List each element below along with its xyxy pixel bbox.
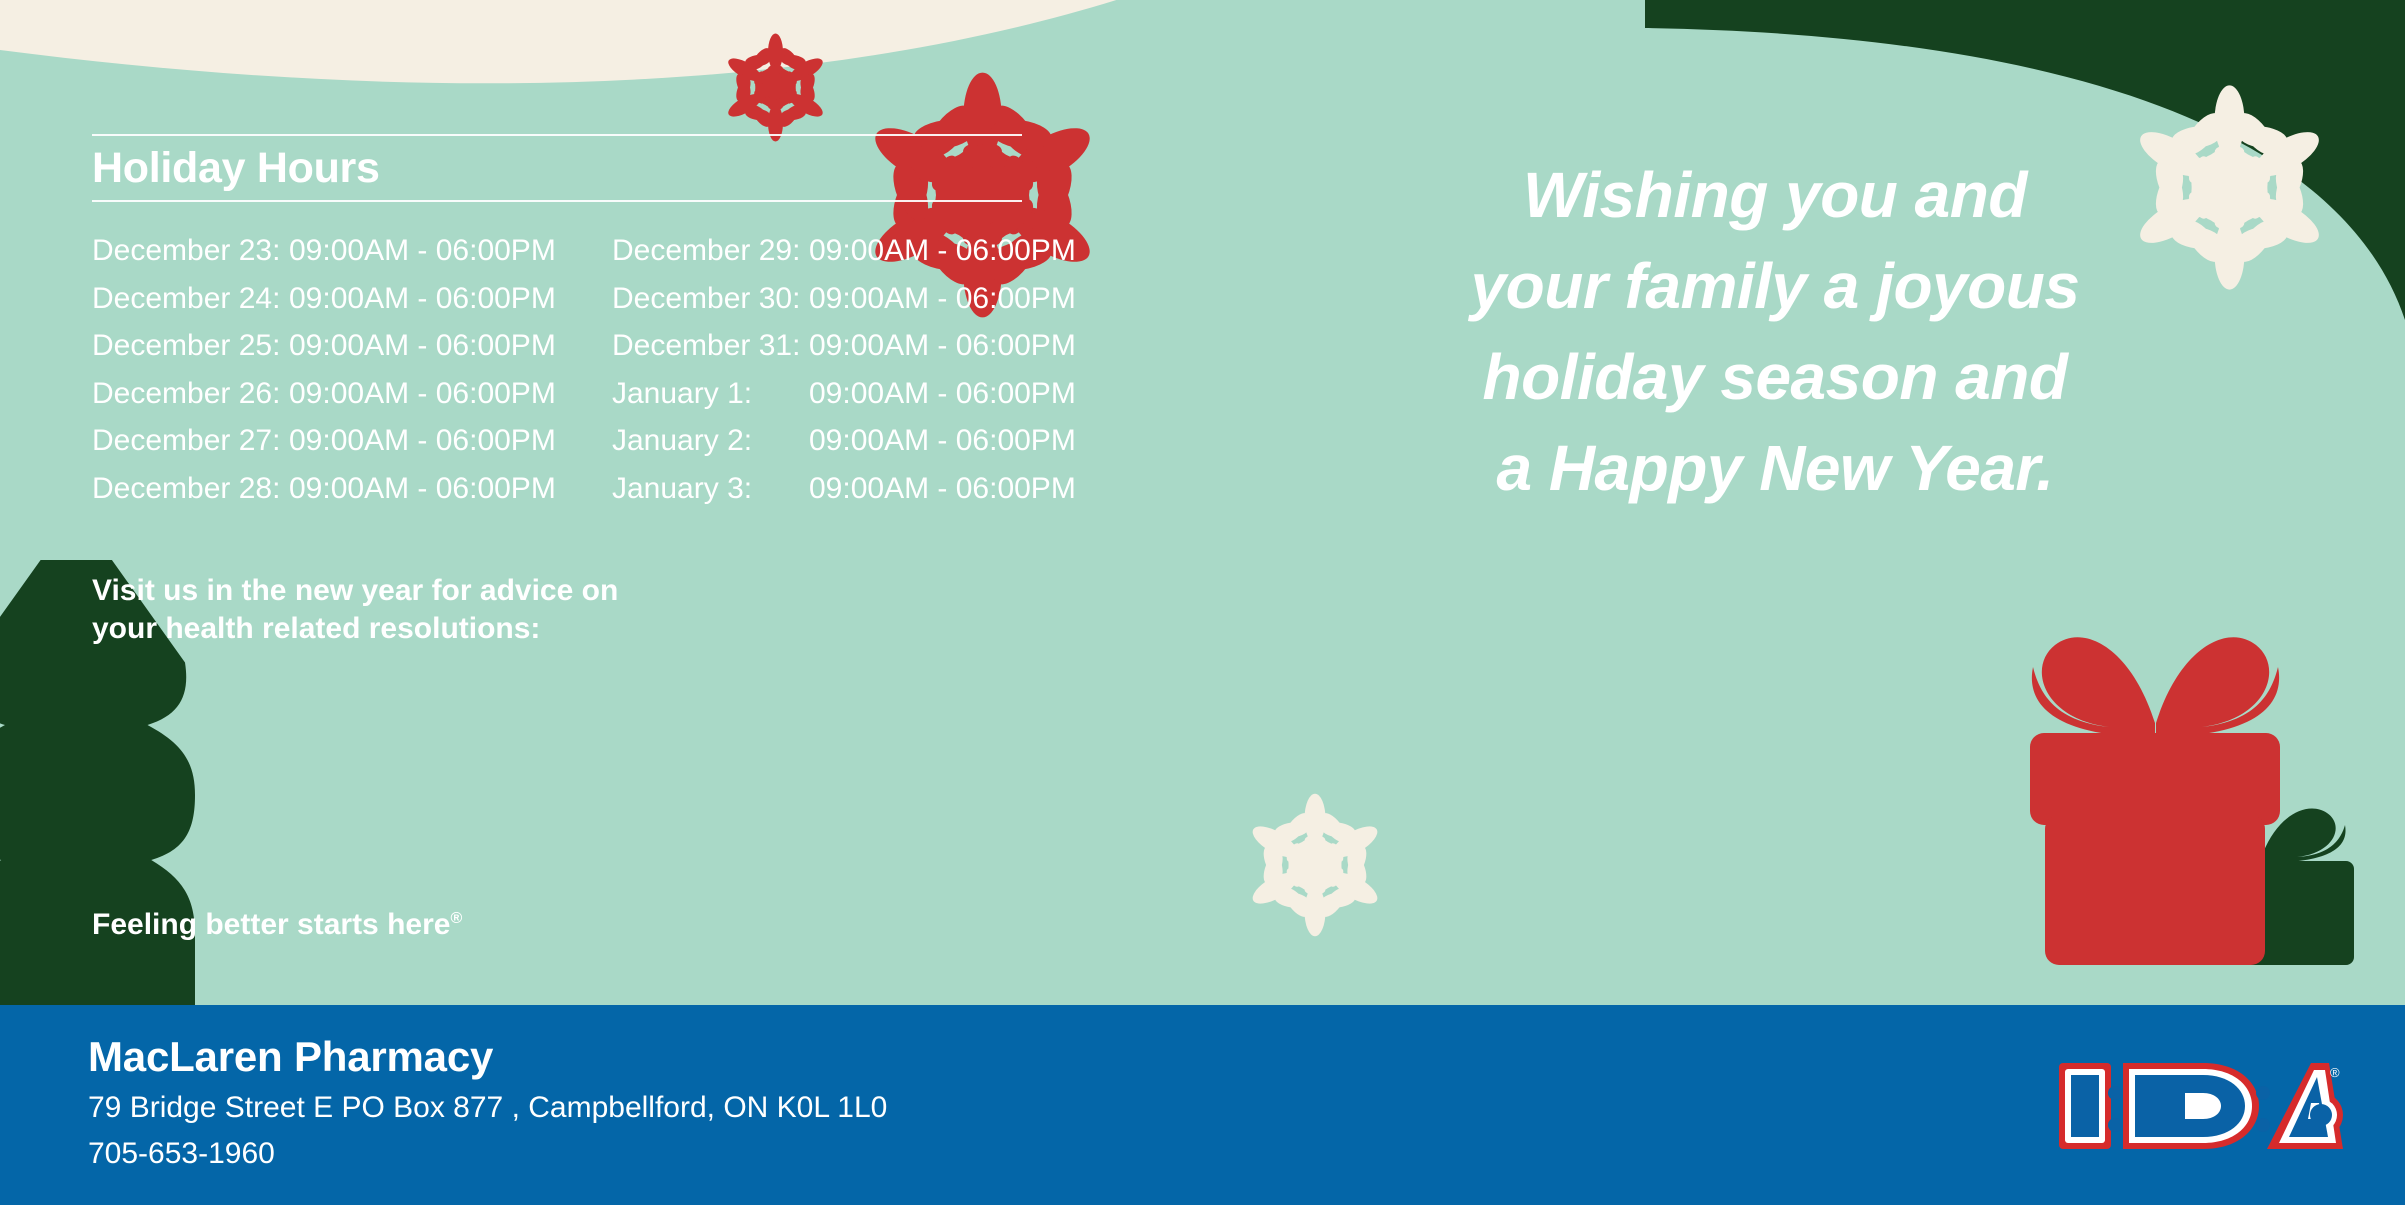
registered-trademark-icon: ® [450, 910, 462, 927]
promo-line-2: your health related resolutions: [92, 610, 852, 648]
hours-day-label: January 3: [612, 472, 809, 506]
holiday-hours-title: Holiday Hours [92, 136, 1122, 200]
holiday-greeting-message: Wishing you and your family a joyous hol… [1360, 150, 2190, 514]
hours-row: December 26: 09:00AM - 06:00PM [92, 377, 612, 425]
brand-tagline: Feeling better starts here® [92, 908, 462, 942]
hours-day-label: December 24: [92, 282, 289, 316]
hours-day-label: December 26: [92, 377, 289, 411]
store-address: 79 Bridge Street E PO Box 877 , Campbell… [88, 1091, 887, 1125]
hours-day-label: December 27: [92, 424, 289, 458]
hours-day-label: December 30: [612, 282, 809, 316]
hours-row: December 31: 09:00AM - 06:00PM [612, 329, 1132, 377]
hours-row: December 24: 09:00AM - 06:00PM [92, 282, 612, 330]
hours-day-label: December 31: [612, 329, 809, 363]
hours-time-value: 09:00AM - 06:00PM [809, 424, 1076, 458]
promo-line-1: Visit us in the new year for advice on [92, 572, 852, 610]
ida-logo: ® [2053, 1053, 2343, 1158]
hours-row: January 1: 09:00AM - 06:00PM [612, 377, 1132, 425]
hours-row: December 29: 09:00AM - 06:00PM [612, 234, 1132, 282]
greeting-line-2: your family a joyous [1360, 241, 2190, 332]
hours-time-value: 09:00AM - 06:00PM [809, 329, 1076, 363]
greeting-line-1: Wishing you and [1360, 150, 2190, 241]
snowflake-red-small-icon [718, 30, 833, 145]
snowflake-cream-center-icon [1240, 790, 1390, 940]
hours-day-label: January 2: [612, 424, 809, 458]
hours-row: December 30: 09:00AM - 06:00PM [612, 282, 1132, 330]
hours-row: December 23: 09:00AM - 06:00PM [92, 234, 612, 282]
holiday-hours-block: Holiday Hours December 23: 09:00AM - 06:… [92, 134, 1122, 519]
greeting-line-3: holiday season and [1360, 332, 2190, 423]
greeting-line-4: a Happy New Year. [1360, 423, 2190, 514]
hours-time-value: 09:00AM - 06:00PM [289, 234, 556, 268]
hours-time-value: 09:00AM - 06:00PM [289, 329, 556, 363]
hours-time-value: 09:00AM - 06:00PM [809, 282, 1076, 316]
hours-time-value: 09:00AM - 06:00PM [289, 377, 556, 411]
hours-time-value: 09:00AM - 06:00PM [289, 472, 556, 506]
hours-row: January 3: 09:00AM - 06:00PM [612, 472, 1132, 520]
store-name: MacLaren Pharmacy [88, 1033, 493, 1081]
hours-time-value: 09:00AM - 06:00PM [289, 282, 556, 316]
promo-message: Visit us in the new year for advice on y… [92, 572, 852, 649]
footer-bar: MacLaren Pharmacy 79 Bridge Street E PO … [0, 1005, 2405, 1205]
hours-row: December 25: 09:00AM - 06:00PM [92, 329, 612, 377]
hours-time-value: 09:00AM - 06:00PM [809, 377, 1076, 411]
hours-day-label: December 29: [612, 234, 809, 268]
hours-bottom-rule [92, 200, 1022, 202]
hours-day-label: December 28: [92, 472, 289, 506]
hours-row: December 28: 09:00AM - 06:00PM [92, 472, 612, 520]
hours-day-label: December 25: [92, 329, 289, 363]
red-gift-box-icon [2005, 615, 2305, 965]
hours-day-label: December 23: [92, 234, 289, 268]
hours-time-value: 09:00AM - 06:00PM [809, 234, 1076, 268]
ida-registered-mark: ® [2330, 1065, 2340, 1080]
hours-day-label: January 1: [612, 377, 809, 411]
hours-grid: December 23: 09:00AM - 06:00PM December … [92, 234, 1122, 519]
hours-time-value: 09:00AM - 06:00PM [809, 472, 1076, 506]
hours-top-rule [92, 134, 1022, 136]
holiday-banner: Holiday Hours December 23: 09:00AM - 06:… [0, 0, 2405, 1205]
hours-row: December 27: 09:00AM - 06:00PM [92, 424, 612, 472]
hours-row: January 2: 09:00AM - 06:00PM [612, 424, 1132, 472]
store-phone: 705-653-1960 [88, 1137, 275, 1171]
green-gift-box-icon [2150, 795, 2375, 965]
tagline-text: Feeling better starts here [92, 908, 450, 941]
hours-time-value: 09:00AM - 06:00PM [289, 424, 556, 458]
